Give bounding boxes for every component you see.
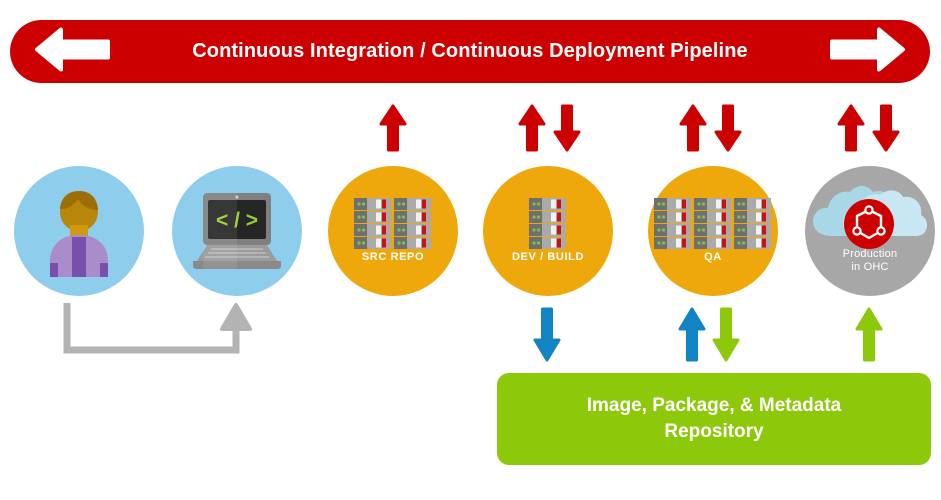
arrow-down-dev-build (553, 104, 581, 157)
repository-label-line1: Image, Package, & Metadata (587, 393, 842, 419)
cloud-openshift-icon (805, 166, 935, 296)
server-rack-icon (648, 166, 778, 296)
node-workstation[interactable]: < / > (172, 166, 302, 296)
node-dev-build[interactable]: DEV / BUILD (483, 166, 613, 296)
banner-title: Continuous Integration / Continuous Depl… (192, 40, 748, 63)
arrow-down-production (872, 104, 900, 157)
node-label-production-line1: Production (805, 248, 935, 261)
arrow-up-repo-to-qa (678, 307, 706, 367)
node-label-production: Production in OHC (805, 248, 935, 274)
server-rack-icon (483, 166, 613, 296)
node-production[interactable]: Production in OHC (805, 166, 935, 296)
node-label-dev-build: DEV / BUILD (483, 251, 613, 264)
node-label-qa: QA (648, 251, 778, 264)
arrow-up-qa (679, 104, 707, 157)
diagram-canvas: Continuous Integration / Continuous Depl… (0, 0, 941, 500)
arrow-right-icon (830, 26, 905, 77)
arrow-up-repo-to-production (855, 307, 883, 367)
arrow-up-production (837, 104, 865, 157)
connector-developer-to-workstation (60, 303, 260, 368)
repository-label: Image, Package, & Metadata Repository (587, 393, 842, 445)
node-src-repo[interactable]: SRC REPO (328, 166, 458, 296)
node-label-src-repo: SRC REPO (328, 251, 458, 264)
cicd-pipeline-banner: Continuous Integration / Continuous Depl… (10, 20, 930, 83)
repository-box[interactable]: Image, Package, & Metadata Repository (497, 373, 931, 465)
arrow-left-icon (35, 26, 110, 77)
arrow-down-qa-to-repo (712, 307, 740, 367)
arrow-down-dev-to-repo (533, 307, 561, 367)
arrow-up-dev-build (518, 104, 546, 157)
node-developer[interactable] (14, 166, 144, 296)
repository-label-line2: Repository (587, 419, 842, 445)
person-icon (14, 166, 144, 296)
node-qa[interactable]: QA (648, 166, 778, 296)
arrow-up-src-repo (379, 104, 407, 157)
arrow-down-qa (714, 104, 742, 157)
node-label-production-line2: in OHC (805, 261, 935, 274)
laptop-code-icon: < / > (172, 166, 302, 296)
server-rack-icon (328, 166, 458, 296)
